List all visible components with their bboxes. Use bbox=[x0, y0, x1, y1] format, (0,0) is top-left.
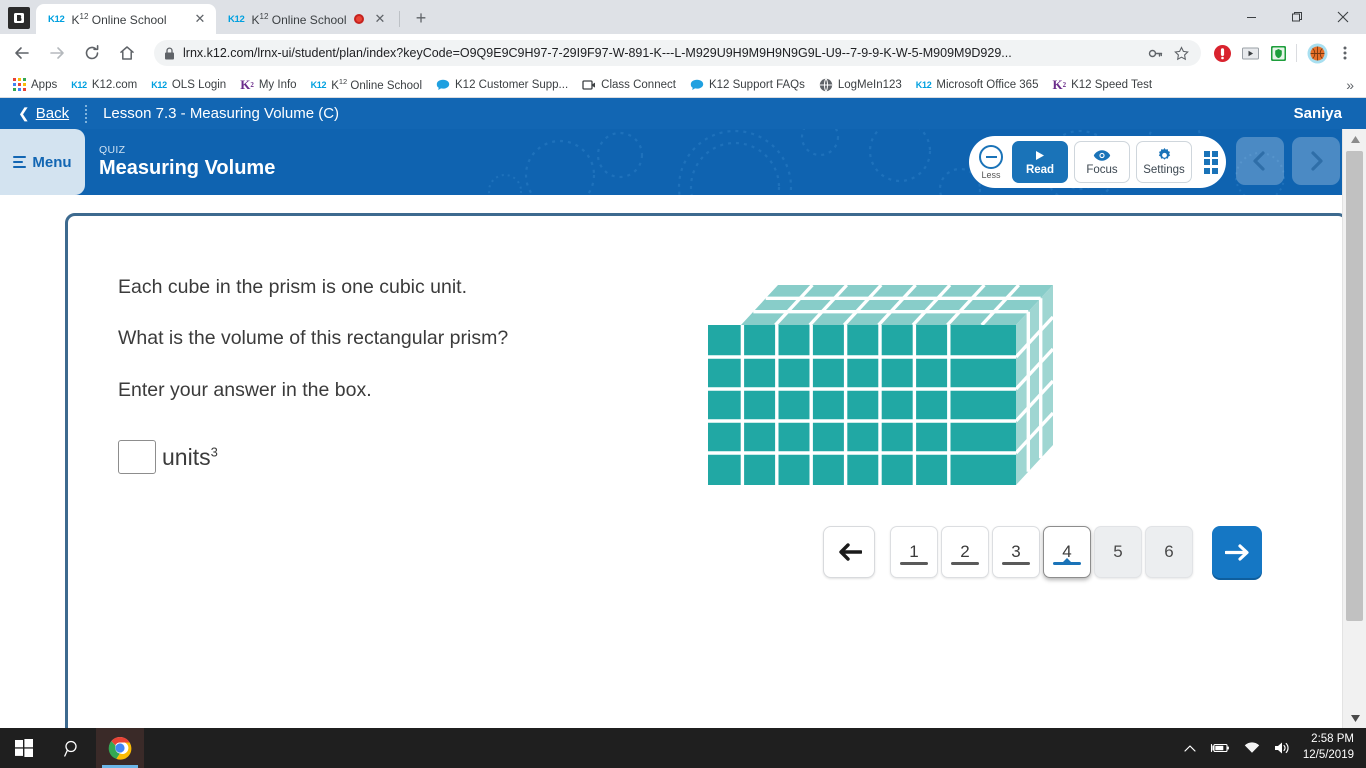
k12-favicon: K12 bbox=[916, 80, 932, 90]
page-button-4[interactable]: 4 bbox=[1043, 526, 1091, 578]
prism-svg bbox=[708, 258, 1053, 493]
bookmark-label: K12 Customer Supp... bbox=[455, 79, 568, 91]
windows-taskbar: 2:58 PM 12/5/2019 bbox=[0, 728, 1366, 768]
page-button-5[interactable]: 5 bbox=[1094, 526, 1142, 578]
activity-ribbon: Menu QUIZ Measuring Volume Less Read bbox=[0, 129, 1366, 195]
page-title: Lesson 7.3 - Measuring Volume (C) bbox=[103, 105, 339, 122]
apps-grid-icon[interactable] bbox=[1200, 141, 1222, 183]
question-card: Each cube in the prism is one cubic unit… bbox=[65, 213, 1348, 728]
chevron-left-icon: ❮ bbox=[18, 105, 30, 122]
reload-icon[interactable] bbox=[78, 39, 106, 67]
question-line-2: What is the volume of this rectangular p… bbox=[118, 327, 1295, 350]
answer-input[interactable] bbox=[118, 440, 156, 474]
browser-toolbar: lrnx.k12.com/lrnx-ui/student/plan/index?… bbox=[0, 34, 1366, 72]
recording-indicator-icon bbox=[354, 14, 364, 24]
question-line-3: Enter your answer in the box. bbox=[118, 379, 1295, 402]
volume-icon[interactable] bbox=[1267, 741, 1297, 755]
globe-icon bbox=[819, 78, 833, 92]
close-icon[interactable]: ✕ bbox=[372, 11, 388, 27]
read-label: Read bbox=[1026, 164, 1054, 176]
bookmark-label: K12 Speed Test bbox=[1071, 79, 1152, 91]
eye-icon bbox=[1093, 148, 1111, 163]
read-button[interactable]: Read bbox=[1012, 141, 1068, 183]
lock-icon bbox=[164, 47, 175, 60]
bookmark-online-school[interactable]: K12 K12 Online School bbox=[304, 74, 429, 96]
bookmark-label: K12.com bbox=[92, 79, 137, 91]
tools-toolbar: Less Read Focus bbox=[969, 136, 1226, 188]
tab-strip: K12 K12 Online School ✕ K12 K12 Online S… bbox=[0, 0, 1366, 34]
page-number-group: 1 2 3 4 5 bbox=[890, 526, 1193, 578]
chevron-right-icon bbox=[1305, 150, 1327, 172]
bookmark-label: My Info bbox=[259, 79, 297, 91]
tab-title: K12 Online School bbox=[72, 12, 192, 27]
bookmark-support-faqs[interactable]: K12 Support FAQs bbox=[683, 74, 812, 96]
rectangular-prism-figure bbox=[708, 258, 1053, 498]
prism-front-face bbox=[708, 325, 1016, 485]
less-button[interactable]: Less bbox=[979, 144, 1003, 180]
back-button[interactable]: ❮ Back bbox=[18, 105, 69, 122]
forward-arrow-icon[interactable] bbox=[43, 39, 71, 67]
url-text: lrnx.k12.com/lrnx-ui/student/plan/index?… bbox=[183, 46, 1139, 60]
settings-label: Settings bbox=[1143, 164, 1185, 176]
bookmark-label: Microsoft Office 365 bbox=[936, 79, 1038, 91]
scroll-down-button[interactable] bbox=[1343, 708, 1366, 728]
page-button-6[interactable]: 6 bbox=[1145, 526, 1193, 578]
bookmark-logmein[interactable]: LogMeIn123 bbox=[812, 74, 909, 96]
arrow-left-icon bbox=[836, 542, 862, 562]
bookmark-ols-login[interactable]: K12 OLS Login bbox=[144, 74, 233, 96]
page-label: 6 bbox=[1164, 542, 1173, 562]
focus-label: Focus bbox=[1086, 164, 1117, 176]
bookmark-customer-support[interactable]: K12 Customer Supp... bbox=[429, 74, 575, 96]
bookmark-label: K12 Support FAQs bbox=[709, 79, 805, 91]
question-pagination: 1 2 3 4 5 bbox=[823, 526, 1262, 578]
browser-profile-icon[interactable] bbox=[8, 7, 30, 29]
clock-time: 2:58 PM bbox=[1303, 732, 1354, 748]
k12-favicon: K12 bbox=[48, 14, 65, 25]
video-camera-icon bbox=[582, 79, 596, 91]
question-line-1: Each cube in the prism is one cubic unit… bbox=[118, 276, 1295, 299]
activity-title-block: QUIZ Measuring Volume bbox=[99, 129, 275, 195]
learning-app: ❮ Back Lesson 7.3 - Measuring Volume (C)… bbox=[0, 98, 1366, 728]
star-icon[interactable] bbox=[1171, 46, 1191, 61]
previous-question-button[interactable] bbox=[823, 526, 875, 578]
speech-bubble-icon bbox=[436, 79, 450, 91]
page-label: 3 bbox=[1011, 542, 1020, 562]
focus-button[interactable]: Focus bbox=[1074, 141, 1130, 183]
scrollbar-thumb[interactable] bbox=[1346, 151, 1363, 621]
bookmark-class-connect[interactable]: Class Connect bbox=[575, 74, 683, 96]
prism-top-face bbox=[741, 285, 1053, 325]
next-question-button[interactable] bbox=[1212, 526, 1262, 578]
chevron-left-icon bbox=[1249, 150, 1271, 172]
home-icon[interactable] bbox=[113, 39, 141, 67]
clock-date: 12/5/2019 bbox=[1303, 748, 1354, 764]
bookmark-apps[interactable]: Apps bbox=[6, 74, 64, 96]
less-label: Less bbox=[981, 170, 1000, 180]
wifi-icon[interactable] bbox=[1237, 742, 1267, 754]
browser-tab-2[interactable]: K12 K12 Online School ✕ bbox=[216, 4, 396, 34]
window-controls bbox=[1228, 0, 1366, 34]
bookmarks-overflow-button[interactable]: » bbox=[1346, 77, 1360, 93]
k12-favicon: K12 bbox=[151, 80, 167, 90]
page-button-3[interactable]: 3 bbox=[992, 526, 1040, 578]
apps-grid-icon bbox=[13, 78, 26, 91]
close-button[interactable] bbox=[1320, 1, 1366, 33]
tab-title: K12 Online School bbox=[252, 12, 354, 27]
adblock-icon[interactable] bbox=[1209, 40, 1235, 66]
bookmark-speed-test[interactable]: K2 K12 Speed Test bbox=[1045, 74, 1159, 96]
bookmark-label: Apps bbox=[31, 79, 57, 91]
answer-row: units3 bbox=[118, 440, 1295, 474]
next-page-button[interactable] bbox=[1292, 137, 1340, 185]
shield-icon[interactable] bbox=[1265, 40, 1291, 66]
bookmark-office-365[interactable]: K12 Microsoft Office 365 bbox=[909, 74, 1046, 96]
back-arrow-icon[interactable] bbox=[8, 39, 36, 67]
k12-favicon: K12 bbox=[228, 14, 245, 25]
play-icon bbox=[1033, 148, 1047, 163]
settings-button[interactable]: Settings bbox=[1136, 141, 1192, 183]
bookmark-label: K12 Online School bbox=[331, 77, 422, 92]
three-dot-menu-icon[interactable] bbox=[1332, 40, 1358, 66]
gear-icon bbox=[1157, 148, 1172, 163]
menu-button[interactable]: Menu bbox=[0, 129, 85, 195]
new-tab-button[interactable]: + bbox=[407, 4, 435, 32]
scroll-up-button[interactable] bbox=[1343, 129, 1366, 149]
browser-window: K12 K12 Online School ✕ K12 K12 Online S… bbox=[0, 0, 1366, 728]
close-icon[interactable]: ✕ bbox=[192, 11, 208, 27]
bookmark-label: OLS Login bbox=[172, 79, 226, 91]
menu-label: Menu bbox=[32, 154, 71, 171]
activity-title: Measuring Volume bbox=[99, 157, 275, 180]
k12-favicon: K12 bbox=[311, 80, 327, 90]
browser-tab-1[interactable]: K12 K12 Online School ✕ bbox=[36, 4, 216, 34]
back-label: Back bbox=[36, 105, 69, 122]
page-scrollbar[interactable] bbox=[1342, 129, 1366, 728]
activity-kicker: QUIZ bbox=[99, 144, 275, 156]
chevron-up-icon[interactable] bbox=[1177, 744, 1203, 753]
search-icon[interactable] bbox=[48, 728, 96, 768]
page-label: 2 bbox=[960, 542, 969, 562]
units-label: units3 bbox=[162, 444, 218, 471]
minimize-button[interactable] bbox=[1228, 1, 1274, 33]
k12-favicon: K12 bbox=[71, 80, 87, 90]
page-button-2[interactable]: 2 bbox=[941, 526, 989, 578]
battery-icon[interactable] bbox=[1203, 742, 1237, 754]
user-name[interactable]: Saniya bbox=[1294, 105, 1342, 122]
windows-start-icon[interactable] bbox=[0, 728, 48, 768]
hamburger-icon bbox=[13, 156, 26, 169]
page-label: 5 bbox=[1113, 542, 1122, 562]
bookmark-my-info[interactable]: K2 My Info bbox=[233, 74, 303, 96]
tab-divider bbox=[399, 11, 400, 27]
previous-page-button[interactable] bbox=[1236, 137, 1284, 185]
toolbar-divider bbox=[1296, 44, 1297, 62]
lesson-header-bar: ❮ Back Lesson 7.3 - Measuring Volume (C)… bbox=[0, 98, 1366, 129]
k-squared-icon: K2 bbox=[1052, 77, 1066, 93]
address-bar[interactable]: lrnx.k12.com/lrnx-ui/student/plan/index?… bbox=[154, 40, 1201, 66]
bookmark-k12com[interactable]: K12 K12.com bbox=[64, 74, 144, 96]
bookmarks-bar: Apps K12 K12.com K12 OLS Login K2 My Inf… bbox=[0, 72, 1366, 98]
key-icon[interactable] bbox=[1145, 46, 1165, 61]
chrome-icon bbox=[108, 736, 132, 760]
page-button-1[interactable]: 1 bbox=[890, 526, 938, 578]
question-card-inner: Each cube in the prism is one cubic unit… bbox=[68, 216, 1345, 728]
bookmark-label: Class Connect bbox=[601, 79, 676, 91]
basketball-icon[interactable] bbox=[1304, 40, 1330, 66]
video-icon[interactable] bbox=[1237, 40, 1263, 66]
taskbar-chrome-button[interactable] bbox=[96, 728, 144, 768]
minus-circle-icon bbox=[979, 145, 1003, 169]
ribbon-navigation bbox=[1236, 137, 1340, 185]
maximize-button[interactable] bbox=[1274, 1, 1320, 33]
system-tray: 2:58 PM 12/5/2019 bbox=[1177, 728, 1366, 768]
taskbar-clock[interactable]: 2:58 PM 12/5/2019 bbox=[1297, 732, 1366, 763]
header-divider bbox=[85, 105, 87, 123]
k-squared-icon: K2 bbox=[240, 77, 254, 93]
page-label: 1 bbox=[909, 542, 918, 562]
arrow-right-icon bbox=[1225, 543, 1249, 562]
speech-bubble-icon bbox=[690, 79, 704, 91]
bookmark-label: LogMeIn123 bbox=[838, 79, 902, 91]
